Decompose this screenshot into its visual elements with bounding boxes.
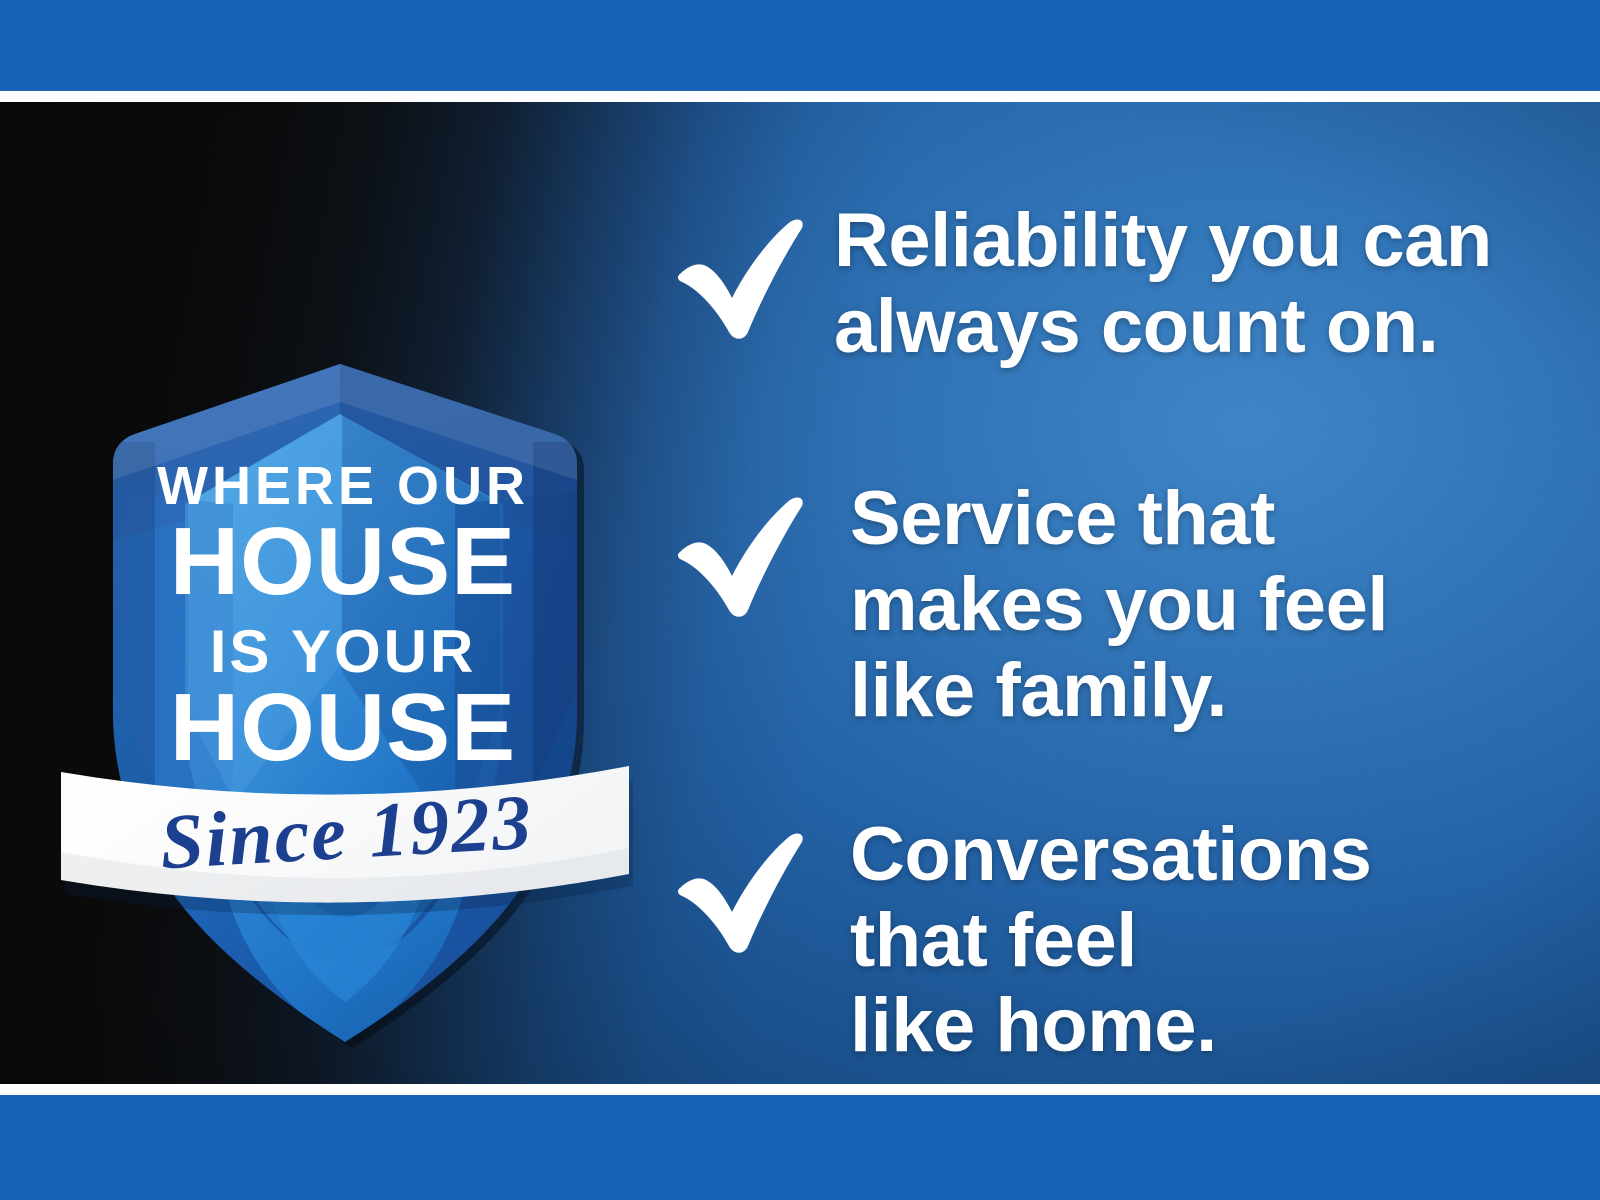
list-item: Service that makes you feel like family. <box>672 476 1572 734</box>
list-item: Conversations that feel like home. <box>672 812 1572 1070</box>
list-item-text: Service that makes you feel like family. <box>850 476 1572 734</box>
shield-headline-text: WHERE OUR HOUSE IS YOUR HOUSE <box>157 456 529 781</box>
list-item-text: Reliability you can always count on. <box>834 198 1572 370</box>
benefits-list: Reliability you can always count on. Ser… <box>672 198 1572 1069</box>
shield-logo: WHERE OUR HOUSE IS YOUR HOUSE Since 1923 <box>55 242 635 1062</box>
bottom-brand-bar <box>0 1095 1600 1200</box>
check-icon <box>672 492 812 622</box>
logo-line-2: HOUSE <box>170 508 516 615</box>
bottom-white-divider <box>0 1084 1600 1095</box>
ribbon-banner: Since 1923 <box>61 766 633 915</box>
promo-graphic: WHERE OUR HOUSE IS YOUR HOUSE Since 1923 <box>0 0 1600 1200</box>
logo-line-1: WHERE OUR <box>157 456 529 516</box>
top-brand-bar <box>0 0 1600 91</box>
check-icon <box>672 828 812 958</box>
main-stage: WHERE OUR HOUSE IS YOUR HOUSE Since 1923 <box>0 102 1600 1084</box>
top-white-divider <box>0 91 1600 102</box>
check-icon <box>672 214 812 344</box>
list-item-text: Conversations that feel like home. <box>850 812 1572 1070</box>
list-item: Reliability you can always count on. <box>672 198 1572 398</box>
logo-line-4: HOUSE <box>170 674 516 781</box>
